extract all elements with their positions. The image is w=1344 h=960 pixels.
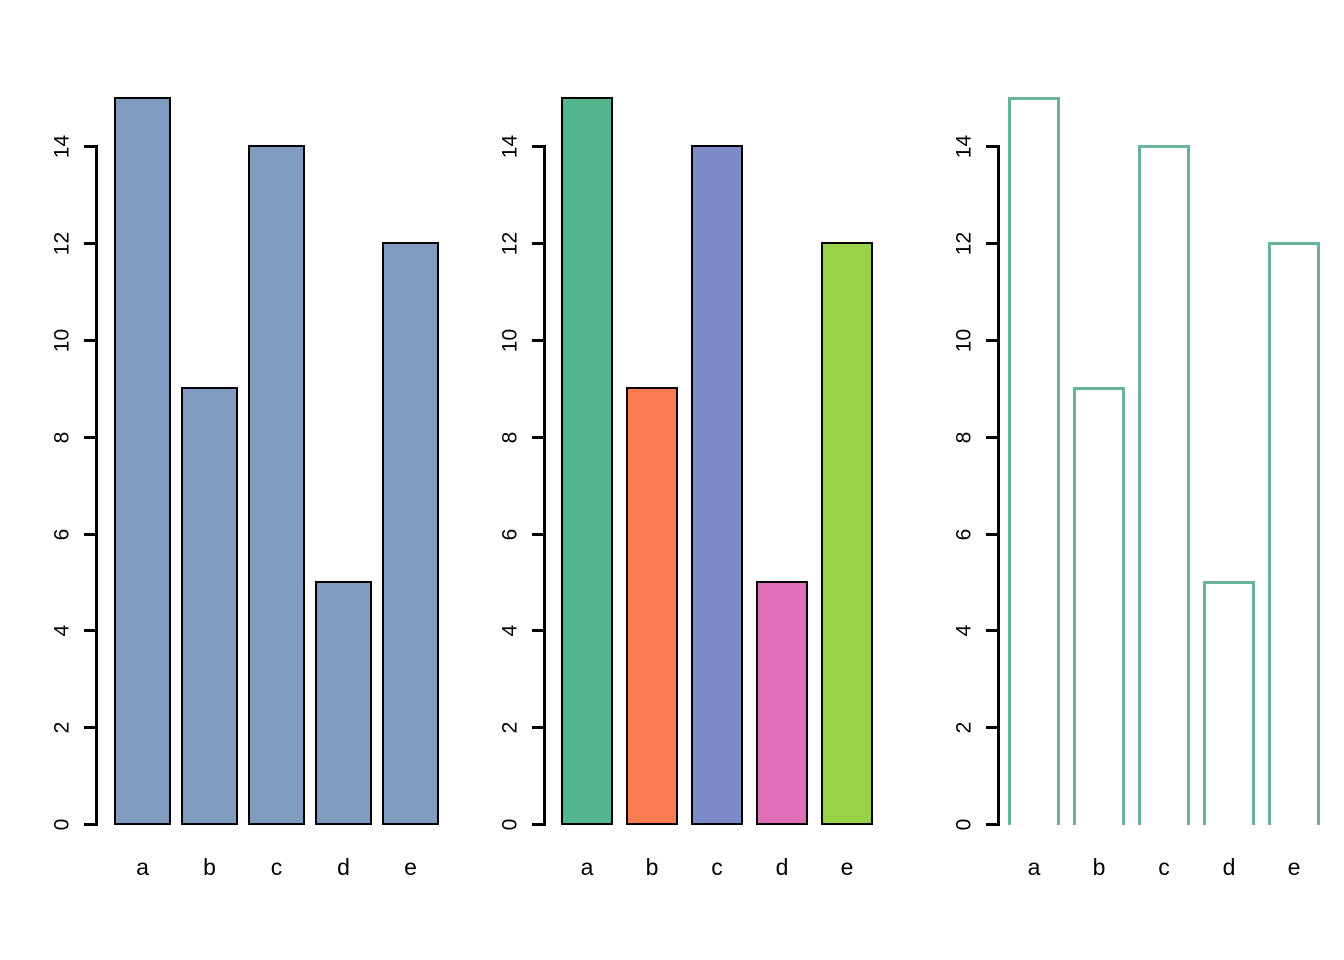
y-tick-14 <box>532 145 543 148</box>
x-axis-label-a: a <box>114 856 171 879</box>
bar-c[interactable] <box>248 145 305 825</box>
y-tick-label-0: 0 <box>954 805 975 845</box>
y-tick-12 <box>84 242 95 245</box>
y-tick-8 <box>986 436 997 439</box>
y-tick-label-8: 8 <box>52 417 73 457</box>
bar-e[interactable] <box>821 242 873 825</box>
y-tick-label-2: 2 <box>52 708 73 748</box>
y-tick-4 <box>986 629 997 632</box>
y-tick-6 <box>986 533 997 536</box>
bar-d[interactable] <box>756 581 808 825</box>
y-tick-label-8: 8 <box>500 417 521 457</box>
x-axis-label-b: b <box>181 856 238 879</box>
x-axis-label-d: d <box>756 856 808 879</box>
y-tick-2 <box>84 726 95 729</box>
bar-e[interactable] <box>382 242 439 825</box>
bar-c[interactable] <box>691 145 743 825</box>
y-tick-label-2: 2 <box>954 708 975 748</box>
y-tick-label-8: 8 <box>954 417 975 457</box>
barplot-panel-1: 02468101214 abcde <box>0 0 448 960</box>
bar-b[interactable] <box>626 387 678 825</box>
barplot-panel-2: 02468101214 abcde <box>448 0 896 960</box>
y-tick-label-4: 4 <box>52 611 73 651</box>
x-axis-label-b: b <box>1073 856 1125 879</box>
y-tick-label-14: 14 <box>954 127 975 167</box>
y-axis-line-3 <box>997 145 1000 826</box>
y-tick-label-4: 4 <box>500 611 521 651</box>
y-tick-0 <box>84 823 95 826</box>
y-tick-label-12: 12 <box>52 224 73 264</box>
y-tick-12 <box>532 242 543 245</box>
y-tick-label-4: 4 <box>954 611 975 651</box>
y-tick-label-0: 0 <box>52 805 73 845</box>
x-axis-label-e: e <box>821 856 873 879</box>
y-tick-0 <box>986 823 997 826</box>
y-tick-label-2: 2 <box>500 708 521 748</box>
x-axis-label-a: a <box>1008 856 1060 879</box>
bar-d[interactable] <box>315 581 372 825</box>
y-tick-4 <box>532 629 543 632</box>
barplot-panel-3: 02468101214 abcde <box>896 0 1344 960</box>
y-tick-10 <box>84 339 95 342</box>
y-tick-8 <box>84 436 95 439</box>
y-tick-label-6: 6 <box>52 514 73 554</box>
y-tick-2 <box>532 726 543 729</box>
y-tick-10 <box>986 339 997 342</box>
y-tick-2 <box>986 726 997 729</box>
y-tick-6 <box>532 533 543 536</box>
y-tick-label-0: 0 <box>500 805 521 845</box>
bar-d[interactable] <box>1203 581 1255 825</box>
x-axis-label-c: c <box>248 856 305 879</box>
y-tick-label-14: 14 <box>500 127 521 167</box>
x-axis-label-e: e <box>382 856 439 879</box>
x-axis-label-d: d <box>1203 856 1255 879</box>
bar-a[interactable] <box>1008 97 1060 825</box>
y-tick-0 <box>532 823 543 826</box>
bar-e[interactable] <box>1268 242 1320 825</box>
y-tick-label-10: 10 <box>500 321 521 361</box>
x-axis-label-c: c <box>691 856 743 879</box>
bar-c[interactable] <box>1138 145 1190 825</box>
y-tick-12 <box>986 242 997 245</box>
y-tick-label-10: 10 <box>52 321 73 361</box>
y-tick-14 <box>84 145 95 148</box>
x-axis-label-e: e <box>1268 856 1320 879</box>
x-axis-label-a: a <box>561 856 613 879</box>
y-tick-label-14: 14 <box>52 127 73 167</box>
figure-canvas: 02468101214 abcde 02468101214 abcde 0246… <box>0 0 1344 960</box>
y-tick-label-6: 6 <box>954 514 975 554</box>
y-tick-10 <box>532 339 543 342</box>
y-tick-6 <box>84 533 95 536</box>
y-tick-label-10: 10 <box>954 321 975 361</box>
y-tick-8 <box>532 436 543 439</box>
plot-region-3: 02468101214 abcde <box>896 0 1344 960</box>
y-tick-label-12: 12 <box>954 224 975 264</box>
bar-b[interactable] <box>1073 387 1125 825</box>
plot-region-2: 02468101214 abcde <box>448 0 896 960</box>
bar-b[interactable] <box>181 387 238 825</box>
x-axis-label-c: c <box>1138 856 1190 879</box>
y-axis-line-1 <box>95 145 98 826</box>
x-axis-label-b: b <box>626 856 678 879</box>
y-tick-label-12: 12 <box>500 224 521 264</box>
y-tick-14 <box>986 145 997 148</box>
y-tick-label-6: 6 <box>500 514 521 554</box>
y-tick-4 <box>84 629 95 632</box>
bar-a[interactable] <box>561 97 613 825</box>
x-axis-label-d: d <box>315 856 372 879</box>
y-axis-line-2 <box>543 145 546 826</box>
bar-a[interactable] <box>114 97 171 825</box>
plot-region-1: 02468101214 abcde <box>0 0 448 960</box>
